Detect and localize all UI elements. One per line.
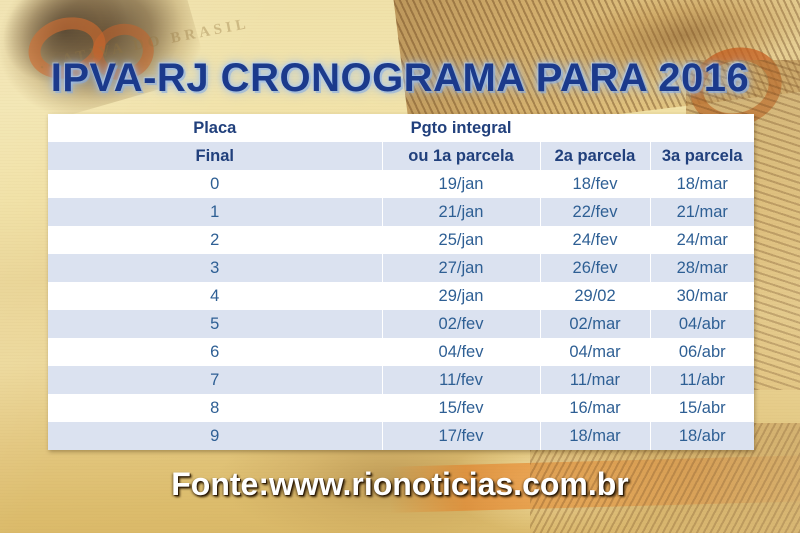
table-row: 1 21/jan 22/fev 21/mar: [48, 198, 754, 226]
cell-integral-ou-1a: 19/jan: [382, 170, 540, 198]
cell-integral-ou-1a: 29/jan: [382, 282, 540, 310]
cell-integral-ou-1a: 11/fev: [382, 366, 540, 394]
table-row: 2 25/jan 24/fev 24/mar: [48, 226, 754, 254]
cell-3a-parcela: 04/abr: [650, 310, 754, 338]
cell-placa-final: 4: [48, 282, 382, 310]
cell-integral-ou-1a: 17/fev: [382, 422, 540, 450]
cell-2a-parcela: 04/mar: [540, 338, 650, 366]
table-row: 4 29/jan 29/02 30/mar: [48, 282, 754, 310]
cell-integral-ou-1a: 15/fev: [382, 394, 540, 422]
cell-3a-parcela: 18/abr: [650, 422, 754, 450]
table-row: 7 11/fev 11/mar 11/abr: [48, 366, 754, 394]
header-2a-parcela: 2a parcela: [540, 142, 650, 170]
cell-2a-parcela: 18/mar: [540, 422, 650, 450]
cell-placa-final: 9: [48, 422, 382, 450]
header-final: Final: [48, 142, 382, 170]
ipva-schedule-table: Placa Pgto integral Final ou 1a parcela …: [48, 114, 754, 450]
cell-integral-ou-1a: 21/jan: [382, 198, 540, 226]
cell-integral-ou-1a: 04/fev: [382, 338, 540, 366]
cell-integral-ou-1a: 27/jan: [382, 254, 540, 282]
cell-placa-final: 0: [48, 170, 382, 198]
schedule-table-body: Placa Pgto integral Final ou 1a parcela …: [48, 114, 754, 450]
table-row: 9 17/fev 18/mar 18/abr: [48, 422, 754, 450]
cell-2a-parcela: 18/fev: [540, 170, 650, 198]
cell-2a-parcela: 26/fev: [540, 254, 650, 282]
header-3a-parcela: 3a parcela: [650, 142, 754, 170]
cell-placa-final: 1: [48, 198, 382, 226]
header-blank-2: [650, 114, 754, 142]
cell-3a-parcela: 15/abr: [650, 394, 754, 422]
table-header-row-1: Placa Pgto integral: [48, 114, 754, 142]
page-title: IPVA-RJ CRONOGRAMA PARA 2016: [0, 56, 800, 101]
cell-2a-parcela: 16/mar: [540, 394, 650, 422]
cell-2a-parcela: 11/mar: [540, 366, 650, 394]
table-row: 3 27/jan 26/fev 28/mar: [48, 254, 754, 282]
cell-2a-parcela: 24/fev: [540, 226, 650, 254]
schedule-table-container: Placa Pgto integral Final ou 1a parcela …: [48, 114, 754, 450]
table-header-row-2: Final ou 1a parcela 2a parcela 3a parcel…: [48, 142, 754, 170]
cell-3a-parcela: 18/mar: [650, 170, 754, 198]
cell-3a-parcela: 06/abr: [650, 338, 754, 366]
cell-2a-parcela: 29/02: [540, 282, 650, 310]
cell-integral-ou-1a: 02/fev: [382, 310, 540, 338]
header-pgto-integral: Pgto integral: [382, 114, 540, 142]
cell-3a-parcela: 30/mar: [650, 282, 754, 310]
table-row: 5 02/fev 02/mar 04/abr: [48, 310, 754, 338]
cell-placa-final: 7: [48, 366, 382, 394]
source-credit: Fonte:www.rionoticias.com.br: [0, 466, 800, 503]
ipva-schedule-poster: ...ATIVA DO BRASIL IPVA-RJ CRONOGRAMA PA…: [0, 0, 800, 533]
cell-placa-final: 5: [48, 310, 382, 338]
header-placa: Placa: [48, 114, 382, 142]
cell-integral-ou-1a: 25/jan: [382, 226, 540, 254]
cell-placa-final: 2: [48, 226, 382, 254]
header-ou-1a-parcela: ou 1a parcela: [382, 142, 540, 170]
cell-placa-final: 8: [48, 394, 382, 422]
cell-placa-final: 6: [48, 338, 382, 366]
table-row: 0 19/jan 18/fev 18/mar: [48, 170, 754, 198]
cell-2a-parcela: 02/mar: [540, 310, 650, 338]
cell-3a-parcela: 28/mar: [650, 254, 754, 282]
header-blank-1: [540, 114, 650, 142]
table-row: 6 04/fev 04/mar 06/abr: [48, 338, 754, 366]
cell-3a-parcela: 24/mar: [650, 226, 754, 254]
cell-placa-final: 3: [48, 254, 382, 282]
cell-3a-parcela: 21/mar: [650, 198, 754, 226]
cell-2a-parcela: 22/fev: [540, 198, 650, 226]
cell-3a-parcela: 11/abr: [650, 366, 754, 394]
table-row: 8 15/fev 16/mar 15/abr: [48, 394, 754, 422]
